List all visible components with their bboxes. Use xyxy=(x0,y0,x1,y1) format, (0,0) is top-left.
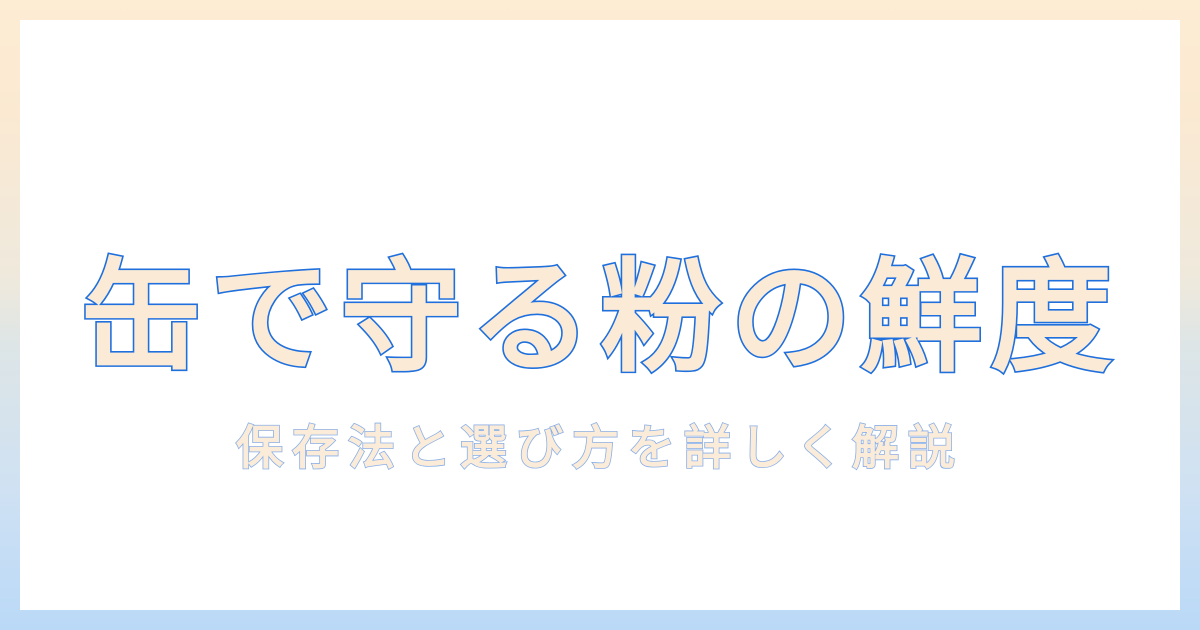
hero-panel: 缶で守る粉の鮮度 保存法と選び方を詳しく解説 xyxy=(20,20,1180,610)
page-subtitle: 保存法と選び方を詳しく解説 xyxy=(236,421,964,477)
subheadline-container: 保存法と選び方を詳しく解説 xyxy=(20,382,1180,516)
page-title: 缶で守る粉の鮮度 xyxy=(80,254,1120,382)
hero-card: 缶で守る粉の鮮度 保存法と選び方を詳しく解説 xyxy=(0,0,1200,630)
